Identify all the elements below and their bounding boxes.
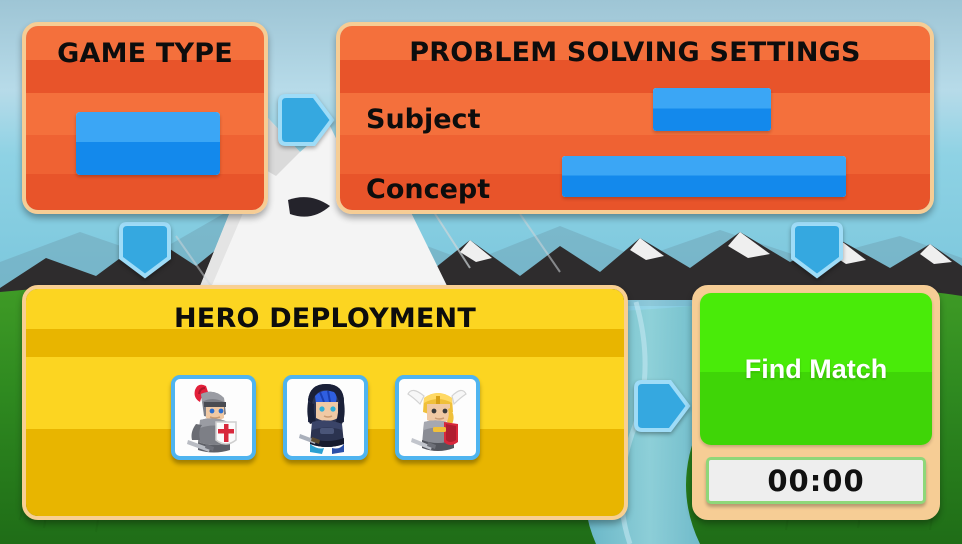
arrow-settings-to-find-match-icon (789, 220, 845, 280)
subject-select-button[interactable]: Math (653, 88, 771, 131)
subject-label: Subject (366, 104, 480, 135)
find-match-label: Find Match (700, 293, 932, 445)
subject-row: Subject (366, 104, 480, 135)
hero-deployment-title: HERO DEPLOYMENT (26, 289, 624, 334)
hero-deployment-panel: HERO DEPLOYMENT (22, 285, 628, 520)
button-fill (562, 156, 846, 197)
problem-solving-settings-panel: PROBLEM SOLVING SETTINGS Subject Math Co… (336, 22, 934, 214)
find-match-button[interactable]: Find Match (700, 293, 932, 445)
match-timer: 00:00 (706, 457, 926, 504)
button-fill (653, 88, 771, 131)
hero-card-rogue[interactable] (283, 375, 368, 460)
match-timer-value: 00:00 (767, 464, 864, 498)
hero-card-knight[interactable] (171, 375, 256, 460)
arrow-game-type-to-hero-icon (117, 220, 173, 280)
game-mode-normal-button[interactable]: Normal (76, 112, 220, 175)
concept-label: Concept (366, 174, 490, 205)
game-type-title: GAME TYPE (26, 26, 264, 69)
arrow-hero-to-find-match-icon (632, 378, 692, 434)
arrow-game-type-to-settings-icon (276, 92, 336, 148)
game-type-panel: GAME TYPE Normal (22, 22, 268, 214)
button-fill (76, 112, 220, 175)
hero-card-valkyrie[interactable] (395, 375, 480, 460)
concept-row: Concept (366, 174, 490, 205)
game-lobby-screen: GAME TYPE Normal PROBLEM SOLVING SETTING… (0, 0, 962, 544)
hero-card-list (26, 375, 624, 460)
problem-solving-title: PROBLEM SOLVING SETTINGS (340, 26, 930, 68)
find-match-panel: Find Match 00:00 (692, 285, 940, 520)
concept-select-button[interactable]: Basic Arithmetic (562, 156, 846, 197)
